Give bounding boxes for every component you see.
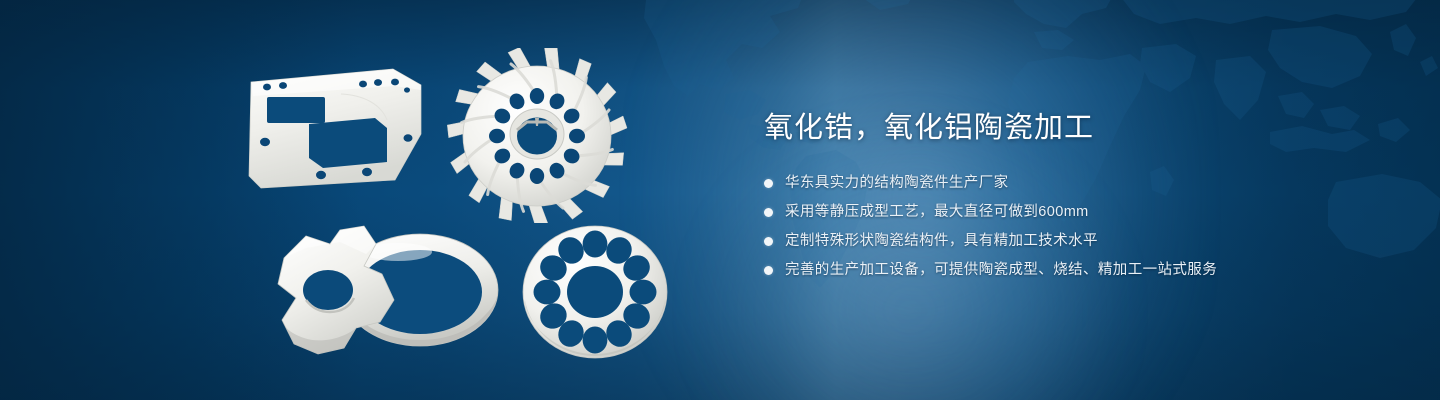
banner-text-block: 氧化锆，氧化铝陶瓷加工 华东具实力的结构陶瓷件生产厂家 采用等静压成型工艺，最大… xyxy=(764,108,1384,288)
banner-headline: 氧化锆，氧化铝陶瓷加工 xyxy=(764,108,1384,148)
hero-banner: 氧化锆，氧化铝陶瓷加工 华东具实力的结构陶瓷件生产厂家 采用等静压成型工艺，最大… xyxy=(0,0,1440,400)
dot-bullet-icon xyxy=(764,237,773,246)
ceramic-disc-part xyxy=(518,222,673,364)
list-item: 华东具实力的结构陶瓷件生产厂家 xyxy=(764,172,1384,194)
dot-bullet-icon xyxy=(764,266,773,275)
list-item: 完善的生产加工设备，可提供陶瓷成型、烧结、精加工一站式服务 xyxy=(764,259,1384,281)
dot-bullet-icon xyxy=(764,208,773,217)
bullet-text: 定制特殊形状陶瓷结构件，具有精加工技术水平 xyxy=(785,231,1098,251)
bullet-text: 完善的生产加工设备，可提供陶瓷成型、烧结、精加工一站式服务 xyxy=(785,260,1217,280)
bullet-text: 采用等静压成型工艺，最大直径可做到600mm xyxy=(785,202,1089,222)
list-item: 定制特殊形状陶瓷结构件，具有精加工技术水平 xyxy=(764,230,1384,252)
ceramic-cross-part xyxy=(248,222,513,362)
list-item: 采用等静压成型工艺，最大直径可做到600mm xyxy=(764,201,1384,223)
ceramic-plate-part xyxy=(245,62,445,192)
product-photo-group xyxy=(0,0,720,400)
ceramic-impeller-part xyxy=(445,48,630,223)
dot-bullet-icon xyxy=(764,179,773,188)
feature-bullet-list: 华东具实力的结构陶瓷件生产厂家 采用等静压成型工艺，最大直径可做到600mm 定… xyxy=(764,172,1384,281)
bullet-text: 华东具实力的结构陶瓷件生产厂家 xyxy=(785,173,1009,193)
